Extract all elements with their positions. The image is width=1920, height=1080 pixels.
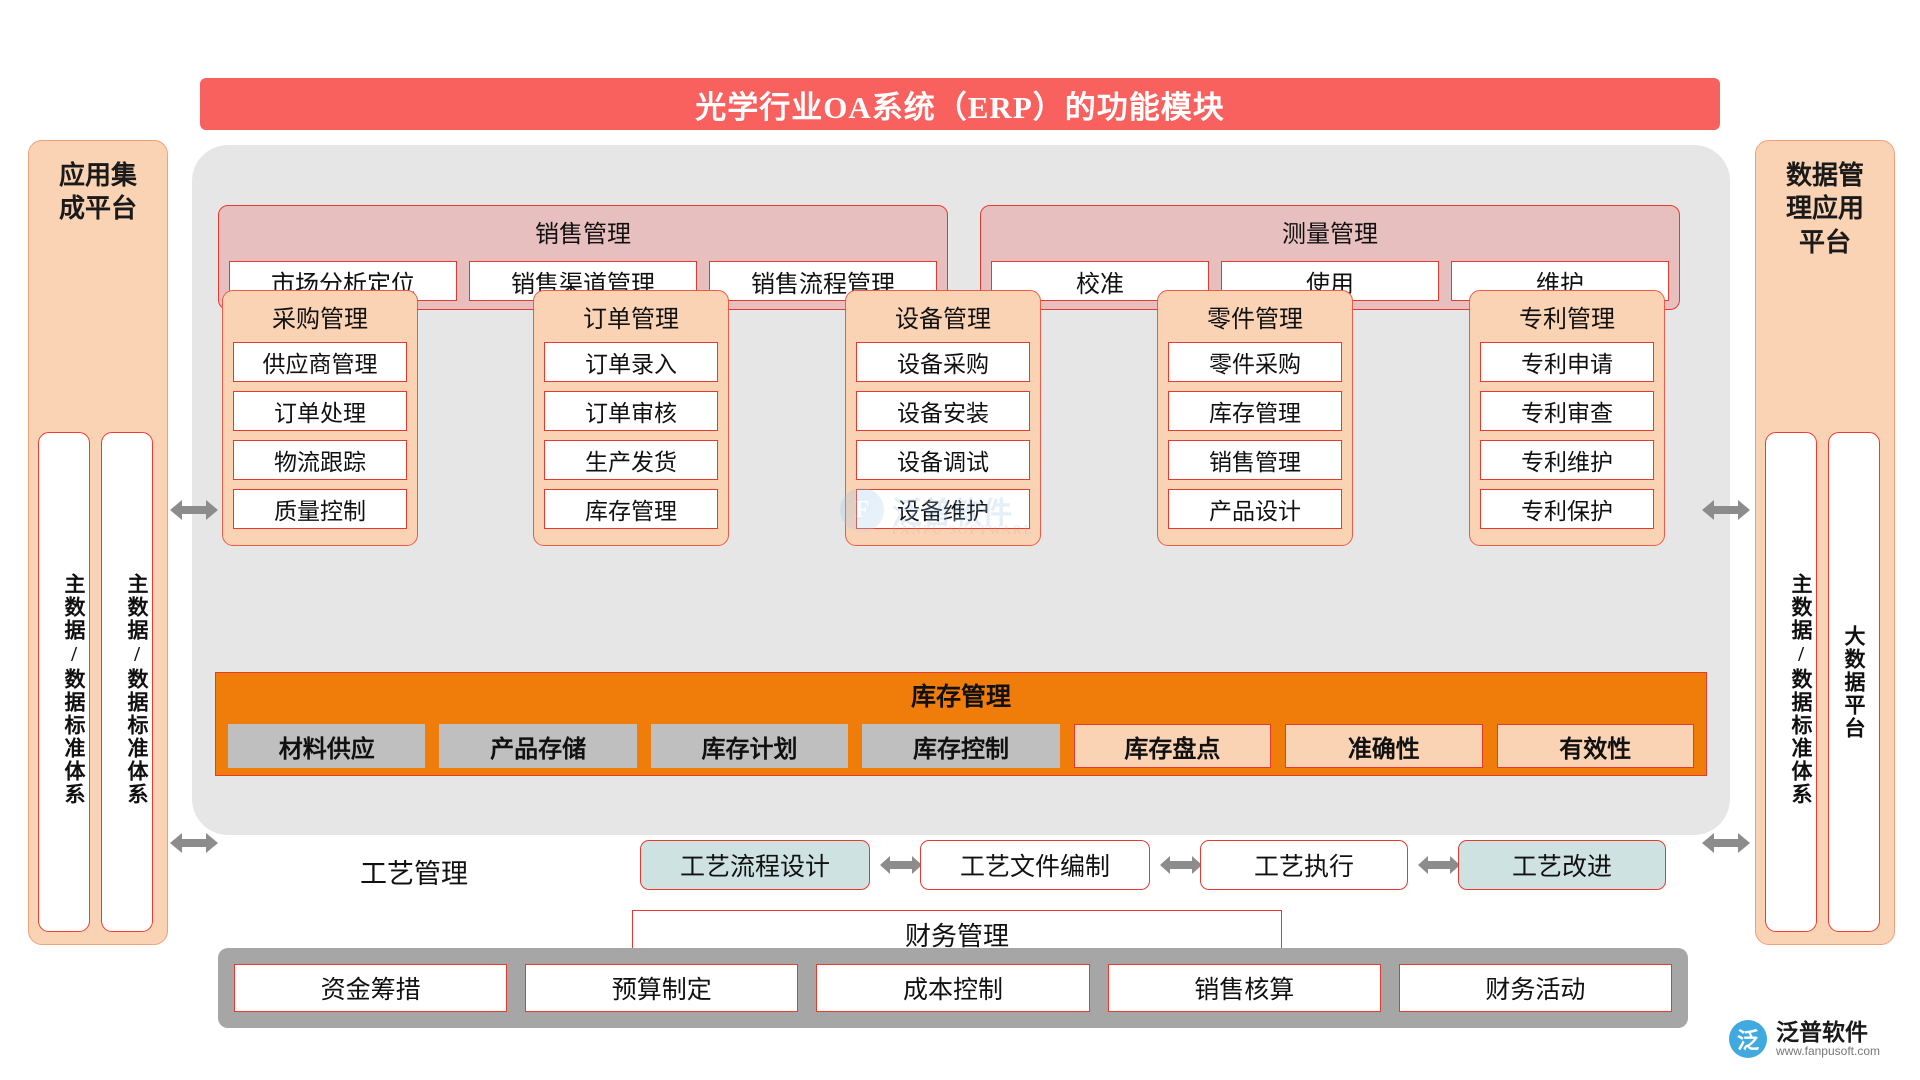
module-item[interactable]: 设备安装 <box>856 391 1030 431</box>
module-item[interactable]: 订单录入 <box>544 342 718 382</box>
module-item[interactable]: 设备调试 <box>856 440 1030 480</box>
process-step-documentation[interactable]: 工艺文件编制 <box>920 840 1150 890</box>
module-order: 订单管理 订单录入 订单审核 生产发货 库存管理 <box>533 290 729 546</box>
process-step-improvement[interactable]: 工艺改进 <box>1458 840 1666 890</box>
inventory-management-bar: 库存管理 材料供应 产品存储 库存计划 库存控制 库存盘点 准确性 有效性 <box>215 672 1707 776</box>
module-title: 订单管理 <box>534 299 728 334</box>
process-arrow-1 <box>878 852 924 878</box>
module-title: 采购管理 <box>223 299 417 334</box>
finance-item[interactable]: 财务活动 <box>1399 964 1672 1012</box>
module-title: 专利管理 <box>1470 299 1664 334</box>
brand-logo-icon: 泛 <box>1729 1020 1767 1058</box>
module-title: 零件管理 <box>1158 299 1352 334</box>
group-title: 销售管理 <box>219 214 947 249</box>
left-arrow-upper <box>168 495 220 525</box>
right-platform-column-1: 主数据/数据标准体系 <box>1765 432 1817 932</box>
module-equipment: 设备管理 设备采购 设备安装 设备调试 设备维护 <box>845 290 1041 546</box>
left-platform: 应用集成平台 主数据/数据标准体系 主数据/数据标准体系 <box>28 140 168 945</box>
inventory-item[interactable]: 库存盘点 <box>1074 724 1271 768</box>
module-item[interactable]: 质量控制 <box>233 489 407 529</box>
process-arrow-2 <box>1158 852 1204 878</box>
module-item[interactable]: 专利申请 <box>1480 342 1654 382</box>
module-item[interactable]: 设备维护 <box>856 489 1030 529</box>
module-title: 设备管理 <box>846 299 1040 334</box>
module-item[interactable]: 库存管理 <box>1168 391 1342 431</box>
brand-mark: 泛 泛普软件 www.fanpusoft.com <box>1729 1020 1880 1058</box>
brand-name: 泛普软件 <box>1776 1020 1880 1045</box>
finance-item[interactable]: 预算制定 <box>525 964 798 1012</box>
process-arrow-3 <box>1416 852 1462 878</box>
inventory-item[interactable]: 准确性 <box>1285 724 1482 768</box>
inventory-item[interactable]: 有效性 <box>1497 724 1694 768</box>
module-item[interactable]: 专利审查 <box>1480 391 1654 431</box>
inventory-item[interactable]: 库存控制 <box>862 724 1059 768</box>
module-item[interactable]: 专利保护 <box>1480 489 1654 529</box>
left-arrow-lower <box>168 828 220 858</box>
module-patent: 专利管理 专利申请 专利审查 专利维护 专利保护 <box>1469 290 1665 546</box>
right-platform-title: 数据管理应用平台 <box>1756 159 1894 259</box>
module-item[interactable]: 零件采购 <box>1168 342 1342 382</box>
left-platform-column-1: 主数据/数据标准体系 <box>38 432 90 932</box>
module-item[interactable]: 库存管理 <box>544 489 718 529</box>
module-item[interactable]: 订单处理 <box>233 391 407 431</box>
diagram-canvas: 光学行业OA系统（ERP）的功能模块 应用集成平台 主数据/数据标准体系 主数据… <box>0 0 1920 1080</box>
module-item[interactable]: 订单审核 <box>544 391 718 431</box>
inventory-item[interactable]: 材料供应 <box>228 724 425 768</box>
right-arrow-lower <box>1700 828 1752 858</box>
process-step-execution[interactable]: 工艺执行 <box>1200 840 1408 890</box>
left-platform-column-2: 主数据/数据标准体系 <box>101 432 153 932</box>
module-item[interactable]: 专利维护 <box>1480 440 1654 480</box>
page-title: 光学行业OA系统（ERP）的功能模块 <box>200 78 1720 130</box>
right-platform-column-2: 大数据平台 <box>1828 432 1880 932</box>
process-management-label: 工艺管理 <box>360 852 468 891</box>
inventory-title: 库存管理 <box>216 677 1706 713</box>
finance-item[interactable]: 资金筹措 <box>234 964 507 1012</box>
module-item[interactable]: 物流跟踪 <box>233 440 407 480</box>
module-item[interactable]: 供应商管理 <box>233 342 407 382</box>
finance-item[interactable]: 成本控制 <box>816 964 1089 1012</box>
module-purchasing: 采购管理 供应商管理 订单处理 物流跟踪 质量控制 <box>222 290 418 546</box>
inventory-item[interactable]: 产品存储 <box>439 724 636 768</box>
left-platform-title: 应用集成平台 <box>29 159 167 226</box>
right-platform: 数据管理应用平台 主数据/数据标准体系 大数据平台 <box>1755 140 1895 945</box>
brand-url: www.fanpusoft.com <box>1776 1045 1880 1058</box>
module-item[interactable]: 设备采购 <box>856 342 1030 382</box>
inventory-item[interactable]: 库存计划 <box>651 724 848 768</box>
finance-bar: 资金筹措 预算制定 成本控制 销售核算 财务活动 <box>218 948 1688 1028</box>
module-item[interactable]: 产品设计 <box>1168 489 1342 529</box>
group-title: 测量管理 <box>981 214 1679 249</box>
finance-item[interactable]: 销售核算 <box>1108 964 1381 1012</box>
process-step-design[interactable]: 工艺流程设计 <box>640 840 870 890</box>
module-parts: 零件管理 零件采购 库存管理 销售管理 产品设计 <box>1157 290 1353 546</box>
right-arrow-upper <box>1700 495 1752 525</box>
module-item[interactable]: 生产发货 <box>544 440 718 480</box>
module-item[interactable]: 销售管理 <box>1168 440 1342 480</box>
